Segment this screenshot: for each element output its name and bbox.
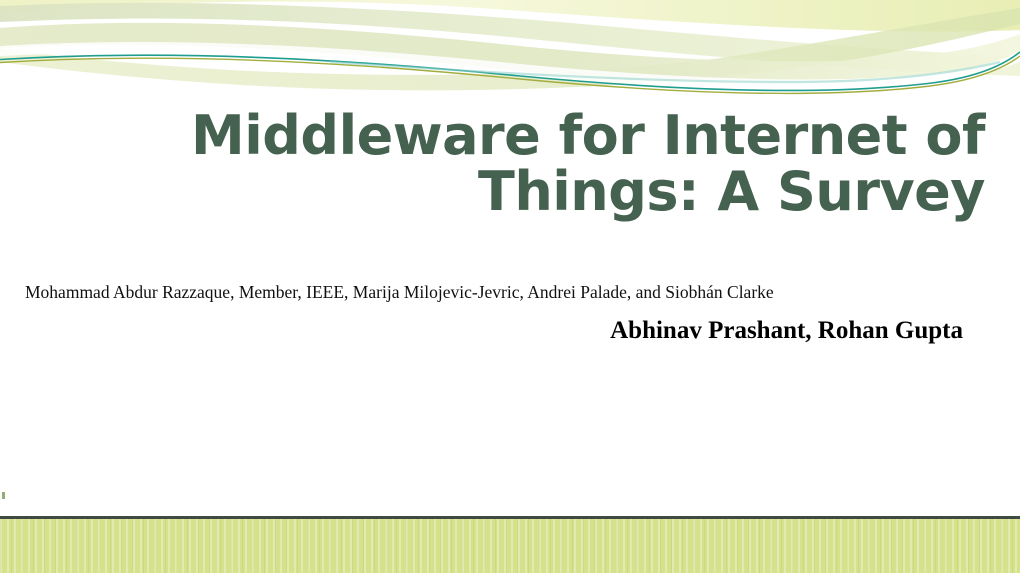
swoosh-line-teal: [0, 52, 1020, 90]
presenter-names: Abhinav Prashant, Rohan Gupta: [25, 316, 963, 346]
swoosh-line-teal-glow: [330, 62, 1000, 82]
title-line-2: Things: A Survey: [30, 164, 985, 220]
swoosh-band-yellow: [0, 0, 1020, 32]
swoosh-band-green-upper: [0, 3, 1020, 76]
swoosh-white-sliver: [0, 42, 1020, 91]
page-title: Middleware for Internet of Things: A Sur…: [30, 108, 985, 220]
swoosh-band-main: [0, 23, 1020, 84]
bottom-accent-band: [0, 519, 1020, 573]
swoosh-band-olive: [0, 8, 1020, 90]
title-line-1: Middleware for Internet of: [30, 108, 985, 164]
ribbon-swoosh-graphic: [0, 0, 1020, 110]
swoosh-line-olive: [0, 56, 1020, 93]
presentation-slide: Middleware for Internet of Things: A Sur…: [0, 0, 1020, 573]
paper-authors: Mohammad Abdur Razzaque, Member, IEEE, M…: [25, 281, 985, 303]
stray-green-mark: [2, 492, 5, 499]
